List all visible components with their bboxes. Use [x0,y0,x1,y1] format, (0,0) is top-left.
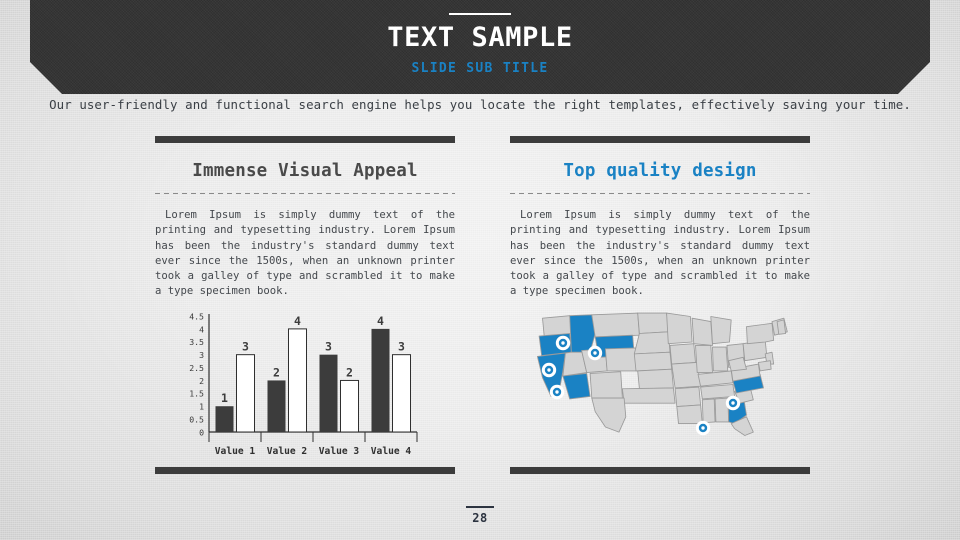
map-state-IN [713,347,728,371]
map-state-IA [670,344,696,364]
map-pin-1 [556,336,570,350]
svg-text:2.5: 2.5 [189,363,204,373]
map-state-NM [590,372,622,398]
svg-text:2: 2 [273,365,280,379]
svg-text:3.5: 3.5 [189,337,204,347]
svg-text:3: 3 [199,350,204,360]
map-state-ID [570,315,596,352]
left-column-title: Immense Visual Appeal [155,161,455,181]
map-pin-4 [550,385,564,399]
map-state-MS [702,399,715,423]
map-state-SD [634,332,670,354]
map-state-CO [605,348,637,371]
map-pin-5 [696,421,710,435]
svg-text:2: 2 [199,376,204,386]
map-state-NH [777,320,786,334]
left-column: Immense Visual Appeal Lorem Ipsum is sim… [155,136,455,300]
map-state-TX [592,398,626,432]
map-state-AZ [563,373,590,399]
right-column-title: Top quality design [510,161,810,181]
left-column-body: Lorem Ipsum is simply dummy text of the … [155,208,455,300]
left-column-bottom-bar [155,467,455,474]
map-state-KY [698,371,733,386]
right-column: Top quality design Lorem Ipsum is simply… [510,136,810,300]
map-state-KS [638,369,674,389]
svg-text:2: 2 [346,365,353,379]
map-pin-3 [542,363,556,377]
svg-text:1: 1 [221,391,228,405]
map-state-NE [634,352,671,371]
map-state-MN [667,313,693,344]
svg-text:1: 1 [199,402,204,412]
svg-text:3: 3 [242,340,249,354]
map-state-NY [747,323,774,343]
map-state-MI [711,317,731,344]
svg-text:4.5: 4.5 [189,311,204,321]
svg-text:Value 4: Value 4 [371,446,412,457]
map-pin-6 [726,396,740,410]
svg-text:0.5: 0.5 [189,415,204,425]
left-column-top-bar [155,136,455,143]
slide-canvas: TEXT SAMPLE SLIDE SUB TITLE Our user-fri… [0,0,960,540]
svg-text:4: 4 [199,324,204,334]
right-column-body: Lorem Ipsum is simply dummy text of the … [510,208,810,300]
united-states-map [525,308,795,463]
right-column-top-bar [510,136,810,143]
page-number: 28 [0,511,960,525]
map-state-LA [677,405,703,424]
page-number-rule [466,506,494,508]
map-state-MD [758,361,771,371]
svg-text:Value 2: Value 2 [267,446,307,457]
header-banner: TEXT SAMPLE SLIDE SUB TITLE [30,0,930,94]
bar-chart: 00.511.522.533.544.513Value 124Value 232… [175,308,423,463]
map-state-IL [696,345,713,372]
right-column-dashed-divider [510,193,810,194]
map-state-MO [672,362,701,388]
bar-chart-svg: 00.511.522.533.544.513Value 124Value 232… [175,308,423,463]
svg-text:0: 0 [199,427,204,437]
svg-text:1.5: 1.5 [189,389,204,399]
map-pin-2 [588,346,602,360]
left-column-dashed-divider [155,193,455,194]
right-column-bottom-bar [510,467,810,474]
map-state-OK [622,388,675,403]
svg-text:3: 3 [398,340,405,354]
svg-text:4: 4 [377,314,384,328]
page-subtitle: SLIDE SUB TITLE [30,61,930,76]
header-divider-rule [449,13,511,15]
united-states-map-svg [525,308,795,463]
map-state-WI [692,318,712,345]
svg-text:Value 3: Value 3 [319,446,360,457]
map-state-AR [675,387,701,407]
svg-text:4: 4 [294,314,301,328]
map-state-ND [638,313,669,333]
intro-text: Our user-friendly and functional search … [0,97,960,112]
svg-text:3: 3 [325,340,332,354]
page-title: TEXT SAMPLE [30,22,930,53]
map-state-WA [543,316,572,336]
map-state-MT [592,313,640,337]
svg-text:Value 1: Value 1 [215,446,256,457]
